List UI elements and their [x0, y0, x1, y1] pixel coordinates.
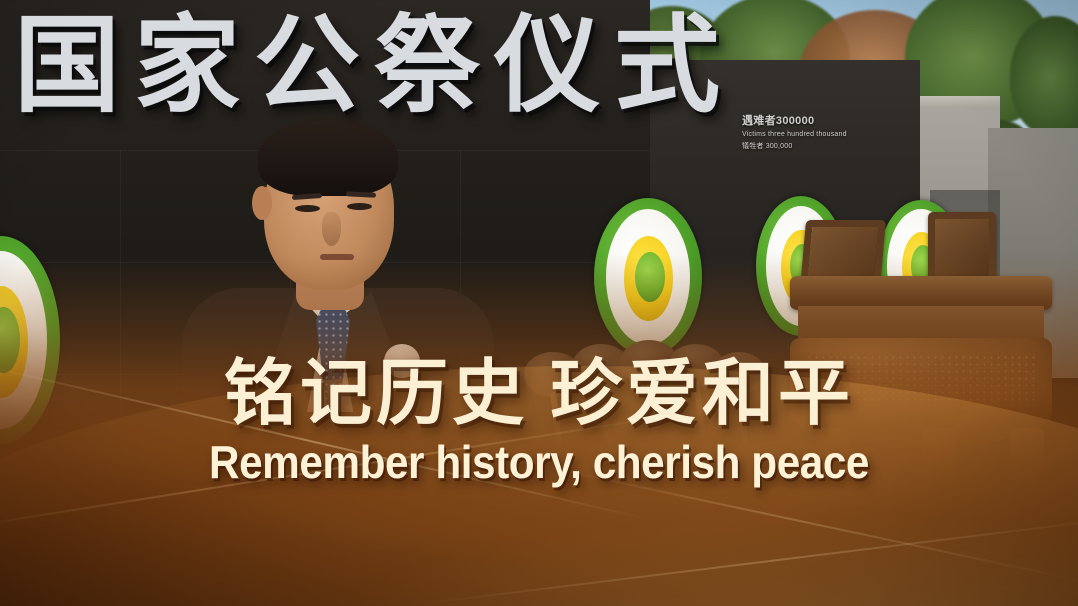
- inscription-line-chinese: 遇难者300000: [742, 112, 876, 128]
- eye: [347, 203, 372, 210]
- photograph-layer: 国家公祭仪式 遇难者300000 Victims three hundred t…: [0, 0, 1078, 606]
- hair: [258, 118, 398, 196]
- caption-english: Remember history, cherish peace: [43, 435, 1035, 489]
- wall-headline-text: 国家公祭仪式: [14, 12, 734, 118]
- caption-chinese-part2: 珍爱和平: [550, 350, 854, 435]
- memorial-inscription: 遇难者300000 Victims three hundred thousand…: [742, 112, 876, 151]
- caption-block: 铭记历史珍爱和平 Remember history, cherish peace: [0, 356, 1078, 489]
- caption-chinese: 铭记历史珍爱和平: [0, 356, 1078, 429]
- ear: [252, 186, 272, 220]
- mouth: [320, 254, 354, 260]
- caption-chinese-part1: 铭记历史: [224, 350, 528, 435]
- ding-decor-band: [798, 306, 1044, 342]
- ding-rim: [790, 276, 1052, 310]
- inscription-line-english: Victims three hundred thousand: [742, 131, 876, 138]
- banner-image: 国家公祭仪式 遇难者300000 Victims three hundred t…: [0, 0, 1078, 606]
- nose: [322, 212, 341, 246]
- eye: [295, 205, 320, 212]
- inscription-line-japanese: 犠牲者 300,000: [742, 141, 876, 151]
- memorial-wreath: [594, 198, 702, 356]
